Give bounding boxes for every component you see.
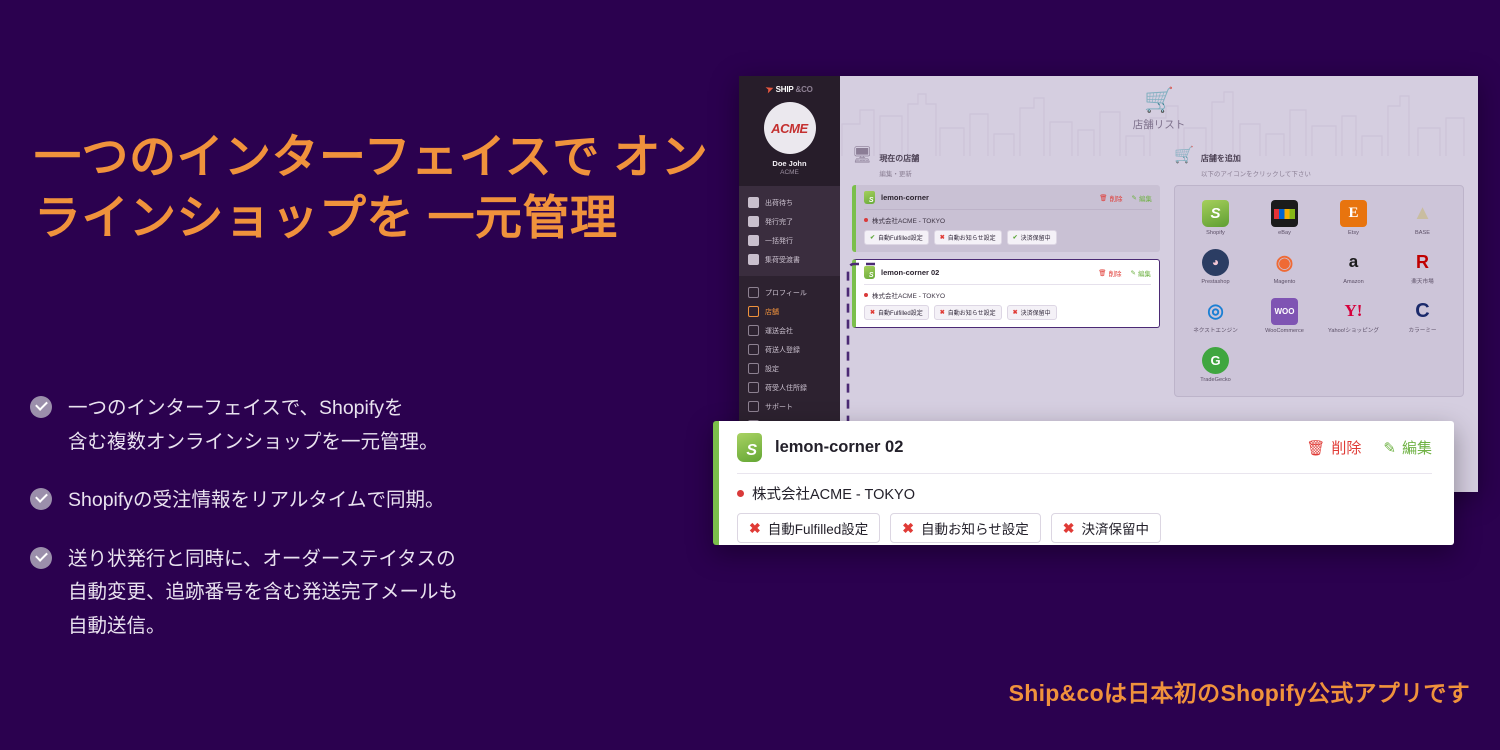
status-badge: ✖ 自動お知らせ設定 [934, 305, 1002, 320]
section-subtitle: 以下のアイコンをクリックして下さい [1201, 168, 1311, 178]
sidebar-item-label: 荷受人住所録 [765, 383, 807, 393]
delete-label: 削除 [1109, 268, 1122, 278]
trash-icon: 🗑 [1098, 269, 1106, 277]
edit-button[interactable]: ✎ 編集 [1131, 268, 1151, 278]
platform-picker-panel: S Shopify eBay E Etsy [1174, 185, 1464, 397]
edit-button[interactable]: ✎ 編集 [1383, 437, 1432, 458]
sender-icon [748, 344, 759, 355]
gear-icon [748, 363, 759, 374]
store-badges: ✖ 自動Fulfilled設定 ✖ 自動お知らせ設定 ✖ 決済保留中 [864, 305, 1151, 320]
shopping-cart-icon: 🛒 [840, 89, 1478, 113]
check-circle-icon [30, 547, 52, 569]
brand-suffix: &CO [796, 85, 813, 94]
store-company: 株式会社ACME - TOKYO [864, 215, 1152, 225]
list-item: Shopifyの受注情報をリアルタイムで同期。 [30, 484, 670, 518]
store-card-selected[interactable]: lemon-corner 02 🗑 削除 ✎ 編集 [852, 259, 1160, 328]
platform-option-amazon[interactable]: a Amazon [1321, 249, 1386, 286]
status-badge: ✖ 決済保留中 [1007, 305, 1057, 320]
slide-root: 一つのインターフェイスで オンラインショップを 一元管理 一つのインターフェイス… [0, 0, 1500, 750]
delete-label: 削除 [1331, 437, 1361, 458]
box-icon [748, 216, 759, 227]
sidebar-item-pickup-receipt[interactable]: 集荷受渡書 [739, 250, 840, 269]
yahoo-icon: Y! [1340, 298, 1367, 325]
status-badge: ✖ 決済保留中 [1051, 513, 1161, 543]
inbox-icon [748, 197, 759, 208]
user-icon [748, 287, 759, 298]
sidebar-item-awaiting-shipment[interactable]: 出荷待ち [739, 193, 840, 212]
sidebar-item-label: 荷送人登録 [765, 345, 800, 355]
receipt-icon [748, 254, 759, 265]
sidebar-item-label: 店舗 [765, 307, 779, 317]
sidebar-item-support[interactable]: サポート [739, 397, 840, 416]
status-badge: ✖ 自動お知らせ設定 [890, 513, 1040, 543]
status-badge: ✖ 自動Fulfilled設定 [737, 513, 880, 543]
platform-option-colorme[interactable]: C カラーミー [1390, 298, 1455, 335]
page-title: 一つのインターフェイスで オンラインショップを 一元管理 [34, 126, 724, 248]
trash-icon: 🗑 [1306, 439, 1325, 457]
list-item: 一つのインターフェイスで、Shopifyを 含む複数オンラインショップを一元管理… [30, 392, 670, 459]
store-name: lemon-corner 02 [881, 268, 939, 277]
delete-button[interactable]: 🗑 削除 [1099, 193, 1122, 203]
bullet-text: Shopifyの受注情報をリアルタイムで同期。 [68, 484, 444, 518]
magento-icon: ◉ [1271, 249, 1298, 276]
store-detail-card[interactable]: lemon-corner 02 🗑 削除 ✎ 編集 株式会社ACME - TOK… [713, 421, 1454, 545]
address-book-icon [748, 382, 759, 393]
shopify-bag-icon [737, 433, 762, 462]
bullet-text: 一つのインターフェイスで、Shopifyを 含む複数オンラインショップを一元管理… [68, 392, 439, 459]
etsy-icon: E [1340, 200, 1367, 227]
sidebar-item-address-book[interactable]: 荷受人住所録 [739, 378, 840, 397]
status-badge: ✔ 決済保留中 [1007, 230, 1057, 245]
store-company: 株式会社ACME - TOKYO [864, 290, 1151, 300]
store-card[interactable]: lemon-corner 🗑 削除 ✎ 編集 [852, 185, 1160, 252]
platform-option-magento[interactable]: ◉ Magento [1252, 249, 1317, 286]
shipandco-logo: ➤ SHIP&CO [739, 84, 840, 95]
ebay-icon [1271, 200, 1298, 227]
check-icon: ✔ [870, 234, 875, 241]
feature-bullet-list: 一つのインターフェイスで、Shopifyを 含む複数オンラインショップを一元管理… [30, 392, 670, 668]
trash-icon: 🗑 [1099, 194, 1107, 202]
platform-option-etsy[interactable]: E Etsy [1321, 200, 1386, 237]
edit-label: 編集 [1402, 437, 1432, 458]
sidebar-item-label: 運送会社 [765, 326, 793, 336]
cross-icon: ✖ [749, 520, 761, 537]
platform-option-rakuten[interactable]: R 楽天市場 [1390, 249, 1455, 286]
base-icon: ▲ [1409, 200, 1436, 227]
sidebar-item-carriers[interactable]: 運送会社 [739, 321, 840, 340]
pencil-icon: ✎ [1383, 439, 1396, 457]
platform-grid: S Shopify eBay E Etsy [1183, 200, 1455, 384]
check-circle-icon [30, 488, 52, 510]
cross-icon: ✖ [940, 234, 945, 241]
detail-badges: ✖ 自動Fulfilled設定 ✖ 自動お知らせ設定 ✖ 決済保留中 [737, 513, 1432, 543]
sidebar-item-label: 出荷待ち [765, 198, 793, 208]
sidebar-item-label: 発行完了 [765, 217, 793, 227]
platform-option-base[interactable]: ▲ BASE [1390, 200, 1455, 237]
sidebar-item-label: サポート [765, 402, 793, 412]
rocket-icon: ➤ [765, 83, 776, 96]
add-store-column: 🛒 店舗を追加 以下のアイコンをクリックして下さい S Shopify [1174, 148, 1464, 397]
edit-label: 編集 [1138, 268, 1151, 278]
platform-option-prestashop[interactable]: ◕ Prestashop [1183, 249, 1248, 286]
store-badges: ✔ 自動Fulfilled設定 ✖ 自動お知らせ設定 ✔ 決済保留中 [864, 230, 1152, 245]
platform-option-yahoo-shopping[interactable]: Y! Yahoo!ショッピング [1321, 298, 1386, 335]
sidebar-item-settings[interactable]: 設定 [739, 359, 840, 378]
sidebar-item-profile[interactable]: プロフィール [739, 283, 840, 302]
divider [864, 209, 1152, 210]
store-company: 株式会社ACME - TOKYO [737, 483, 1432, 504]
platform-option-ebay[interactable]: eBay [1252, 200, 1317, 237]
check-circle-icon [30, 396, 52, 418]
store-name: lemon-corner [881, 193, 929, 202]
store-icon [748, 306, 759, 317]
stack-icon [748, 235, 759, 246]
sidebar-item-label: 集荷受渡書 [765, 255, 800, 265]
sidebar-primary-nav: 出荷待ち 発行完了 一括発行 集荷受渡書 [739, 186, 840, 276]
user-name: Doe John [739, 159, 840, 168]
add-store-header: 🛒 店舗を追加 以下のアイコンをクリックして下さい [1174, 148, 1464, 178]
amazon-icon: a [1340, 249, 1367, 276]
cross-icon: ✖ [1013, 309, 1018, 316]
sidebar-item-label: 設定 [765, 364, 779, 374]
status-badge: ✔ 自動Fulfilled設定 [864, 230, 929, 245]
pencil-icon: ✎ [1132, 194, 1137, 202]
platform-option-shopify[interactable]: S Shopify [1183, 200, 1248, 237]
divider [864, 284, 1151, 285]
check-icon: ✔ [1013, 234, 1018, 241]
status-badge: ✖ 自動お知らせ設定 [934, 230, 1002, 245]
list-item: 送り状発行と同時に、オーダーステイタスの 自動変更、追跡番号を含む発送完了メール… [30, 543, 670, 644]
prestashop-icon: ◕ [1202, 249, 1229, 276]
avatar: ACME [764, 102, 816, 154]
store-name: lemon-corner 02 [775, 438, 903, 457]
section-title: 現在の店舗 [879, 154, 919, 163]
shopify-icon: S [1202, 200, 1229, 227]
sidebar-item-issued[interactable]: 発行完了 [739, 212, 840, 231]
sidebar-item-bulk-issue[interactable]: 一括発行 [739, 231, 840, 250]
page-header: 🛒 店舗リスト [840, 76, 1478, 132]
rakuten-icon: R [1409, 249, 1436, 276]
woocommerce-icon: WOO [1271, 298, 1298, 325]
store-monitor-icon: 🖥 [852, 148, 872, 164]
current-stores-column: 🖥 現在の店舗 編集・更新 lemon-corner [852, 148, 1160, 397]
edit-label: 編集 [1139, 193, 1152, 203]
add-to-cart-icon: 🛒 [1174, 148, 1194, 164]
sidebar-item-sender-registration[interactable]: 荷送人登録 [739, 340, 840, 359]
nextengine-icon: ◎ [1202, 298, 1229, 325]
cross-icon: ✖ [940, 309, 945, 316]
brand-text: SHIP [776, 85, 794, 94]
tagline: Ship&coは日本初のShopify公式アプリです [1009, 674, 1470, 708]
truck-icon [748, 325, 759, 336]
sidebar-item-stores[interactable]: 店舗 [739, 302, 840, 321]
sidebar-item-label: 一括発行 [765, 236, 793, 246]
current-stores-header: 🖥 現在の店舗 編集・更新 [852, 148, 1160, 178]
delete-button[interactable]: 🗑 削除 [1306, 437, 1361, 458]
sidebar-item-label: プロフィール [765, 288, 807, 298]
status-dot-icon [864, 218, 868, 222]
divider [737, 473, 1432, 474]
delete-button[interactable]: 🗑 削除 [1098, 268, 1121, 278]
bullet-text: 送り状発行と同時に、オーダーステイタスの 自動変更、追跡番号を含む発送完了メール… [68, 543, 458, 644]
section-subtitle: 編集・更新 [879, 168, 919, 178]
platform-option-nextengine[interactable]: ◎ ネクストエンジン [1183, 298, 1248, 335]
support-icon [748, 401, 759, 412]
tradegecko-icon: G [1202, 347, 1229, 374]
user-org: ACME [739, 169, 840, 176]
delete-label: 削除 [1110, 193, 1123, 203]
sidebar-profile-block: ➤ SHIP&CO ACME Doe John ACME [739, 76, 840, 186]
status-dot-icon [737, 490, 744, 497]
colorme-icon: C [1409, 298, 1436, 325]
cross-icon: ✖ [1063, 520, 1075, 537]
cross-icon: ✖ [902, 520, 914, 537]
shopify-bag-icon [864, 191, 875, 204]
section-title: 店舗を追加 [1201, 154, 1241, 163]
platform-option-tradegecko[interactable]: G TradeGecko [1183, 347, 1248, 384]
edit-button[interactable]: ✎ 編集 [1132, 193, 1152, 203]
page-heading: 店舗リスト [840, 117, 1478, 132]
platform-option-woocommerce[interactable]: WOO WooCommerce [1252, 298, 1317, 335]
sidebar-secondary-nav: プロフィール 店舗 運送会社 荷送人登録 設定 [739, 276, 840, 442]
pencil-icon: ✎ [1131, 269, 1136, 277]
